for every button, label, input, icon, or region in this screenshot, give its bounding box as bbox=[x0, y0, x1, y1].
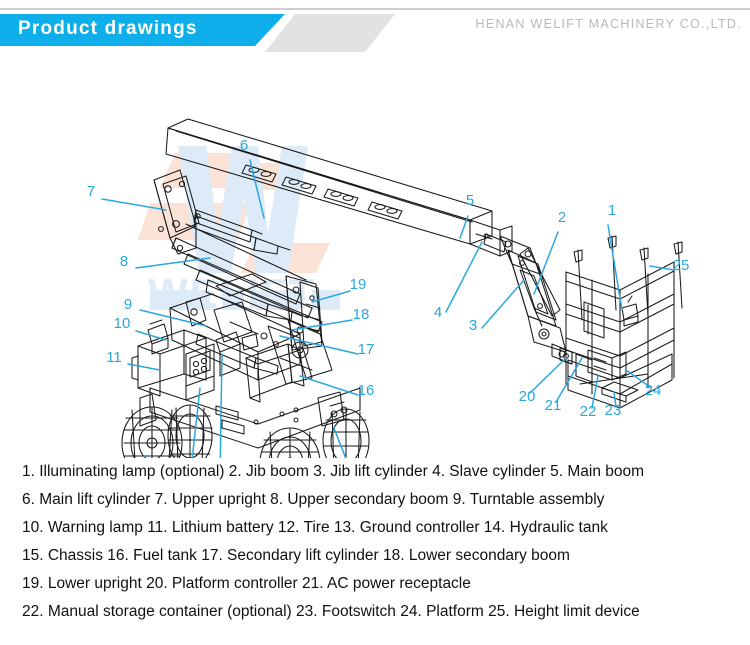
callout-9: 9 bbox=[124, 296, 132, 313]
tire-rear-left bbox=[260, 428, 320, 458]
illuminating-lamp bbox=[622, 296, 638, 326]
callout-24: 24 bbox=[645, 382, 662, 399]
callout-21: 21 bbox=[545, 397, 562, 414]
callout-20: 20 bbox=[519, 388, 536, 405]
header-top-rule bbox=[0, 8, 750, 10]
legend-line: 6. Main lift cylinder 7. Upper upright 8… bbox=[0, 486, 750, 514]
callout-18: 18 bbox=[353, 306, 370, 323]
callout-6: 6 bbox=[240, 137, 248, 154]
callout-5: 5 bbox=[466, 192, 474, 209]
page-title: Product drawings bbox=[18, 18, 198, 40]
callout-1: 1 bbox=[608, 202, 616, 219]
height-limit-device bbox=[574, 236, 682, 320]
tire-front-right bbox=[168, 405, 212, 458]
legend-line: 1. Illuminating lamp (optional) 2. Jib b… bbox=[0, 458, 750, 486]
callout-11: 11 bbox=[106, 349, 122, 366]
legend-line: 22. Manual storage container (optional) … bbox=[0, 598, 750, 626]
callout-23: 23 bbox=[605, 402, 622, 419]
callout-3: 3 bbox=[469, 317, 477, 334]
callout-17: 17 bbox=[358, 341, 375, 358]
legend-line: 19. Lower upright 20. Platform controlle… bbox=[0, 570, 750, 598]
page-header: Product drawings HENAN WELIFT MACHINERY … bbox=[0, 0, 750, 58]
callout-4: 4 bbox=[434, 304, 442, 321]
tire-rear-right bbox=[323, 409, 369, 458]
lithium-battery bbox=[132, 330, 206, 396]
company-name: HENAN WELIFT MACHINERY CO.,LTD. bbox=[476, 17, 743, 31]
callout-22: 22 bbox=[580, 403, 597, 420]
callout-7: 7 bbox=[87, 183, 95, 200]
callout-10: 10 bbox=[114, 315, 131, 332]
callout-16: 16 bbox=[358, 382, 375, 399]
callout-25: 25 bbox=[673, 257, 690, 274]
parts-legend: 1. Illuminating lamp (optional) 2. Jib b… bbox=[0, 458, 750, 626]
callout-2: 2 bbox=[558, 209, 566, 226]
callout-8: 8 bbox=[120, 253, 128, 270]
callout-19: 19 bbox=[350, 276, 367, 293]
product-drawing: WELIFT bbox=[0, 58, 750, 458]
legend-line: 10. Warning lamp 11. Lithium battery 12.… bbox=[0, 514, 750, 542]
legend-line: 15. Chassis 16. Fuel tank 17. Secondary … bbox=[0, 542, 750, 570]
tire-front-left bbox=[122, 407, 182, 458]
jib-assembly bbox=[484, 234, 572, 364]
